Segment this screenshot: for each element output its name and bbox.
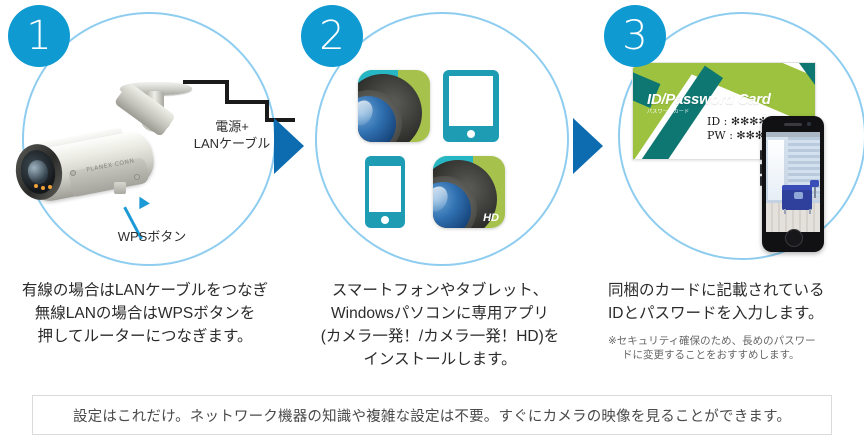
step-1-caption-line-2: 無線LANの場合はWPSボタンを: [0, 302, 290, 325]
tablet-icon: [443, 70, 499, 142]
step-2-caption: スマートフォンやタブレット、 Windowsパソコンに専用アプリ (カメラ一発！…: [295, 279, 585, 371]
smartphone-home-button: [785, 229, 803, 247]
step-2-caption-line-4: インストールします。: [295, 348, 585, 371]
camera-ir-led: [48, 185, 52, 189]
cable-callout-label: 電源+ LANケーブル: [184, 118, 280, 152]
flow-arrow-1-to-2: [274, 118, 304, 174]
step-2-caption-line-1: スマートフォンやタブレット、: [295, 279, 585, 302]
step-3-caption-line-2: IDとパスワードを入力します。: [608, 302, 858, 325]
app-icon-grid: HD: [353, 70, 523, 230]
tablet-home-button: [467, 130, 475, 138]
room-sofa-leg: [809, 209, 811, 214]
network-camera-illustration: PLANEX CONN: [8, 78, 218, 228]
step-3-note: ※セキュリティ確保のため、長めのパスワー ドに変更することをおすすめします。: [608, 334, 856, 362]
smartphone-earpiece: [784, 123, 802, 126]
step-1-badge: 1: [8, 5, 70, 67]
camera-screw: [134, 174, 140, 180]
camera-ir-led: [41, 186, 45, 190]
flow-arrow-2-to-3: [573, 118, 603, 174]
card-pw-label: PW :: [707, 129, 733, 142]
camera-app-icon: [358, 70, 430, 142]
cable-callout-line-1: 電源+: [184, 118, 280, 135]
setup-steps-diagram: 1 PLANEX CONN: [0, 0, 864, 439]
cable-segment: [183, 80, 229, 84]
cable-callout-line-2: LANケーブル: [184, 135, 280, 152]
room-cushion: [794, 192, 803, 199]
camera-ir-led: [34, 184, 38, 188]
step-2-caption-line-2: Windowsパソコンに専用アプリ: [295, 302, 585, 325]
step-3-caption: 同梱のカードに記載されている IDとパスワードを入力します。: [608, 279, 858, 325]
smartphone-screen-live-view: [766, 132, 820, 232]
camera-screw: [70, 170, 76, 176]
card-id-label: ID :: [707, 115, 727, 128]
step-1-caption: 有線の場合はLANケーブルをつなぎ 無線LANの場合はWPSボタンを 押してルー…: [0, 279, 290, 348]
step-3-badge: 3: [604, 5, 666, 67]
smartphone-side-button: [760, 176, 762, 186]
step-3-caption-line-1: 同梱のカードに記載されている: [608, 279, 858, 302]
app-icon-hd-badge: HD: [483, 212, 499, 224]
room-sofa-leg: [784, 209, 786, 214]
card-subtitle: パスワードカード: [647, 108, 689, 115]
step-3-note-line-1: ※セキュリティ確保のため、長めのパスワー: [608, 334, 856, 348]
card-title: ID/Password Card: [647, 91, 771, 108]
wps-callout-label: WPSボタン: [92, 226, 212, 245]
step-2-badge: 2: [301, 5, 363, 67]
summary-banner: 設定はこれだけ。ネットワーク機器の知識や複雑な設定は不要。すぐにカメラの映像を見…: [32, 395, 832, 435]
summary-banner-text: 設定はこれだけ。ネットワーク機器の知識や複雑な設定は不要。すぐにカメラの映像を見…: [73, 405, 791, 426]
smartphone-device: [762, 116, 824, 252]
step-3-note-line-2: ドに変更することをおすすめします。: [608, 348, 856, 362]
tablet-screen: [449, 76, 493, 126]
camera-wps-button: [114, 182, 126, 194]
cable-segment: [225, 100, 269, 104]
smartphone-screen: [369, 166, 401, 212]
smartphone-icon: [365, 156, 405, 228]
smartphone-front-camera-icon: [807, 122, 811, 126]
step-1-caption-line-1: 有線の場合はLANケーブルをつなぎ: [0, 279, 290, 302]
camera-app-hd-icon: HD: [433, 156, 505, 228]
step-1-caption-line-3: 押してルーターにつなぎます。: [0, 325, 290, 348]
smartphone-side-button: [760, 150, 762, 160]
smartphone-home-button: [381, 216, 389, 224]
step-2-caption-line-3: (カメラ一発！/カメラ一発！HD)を: [295, 325, 585, 348]
smartphone-side-button: [760, 164, 762, 174]
